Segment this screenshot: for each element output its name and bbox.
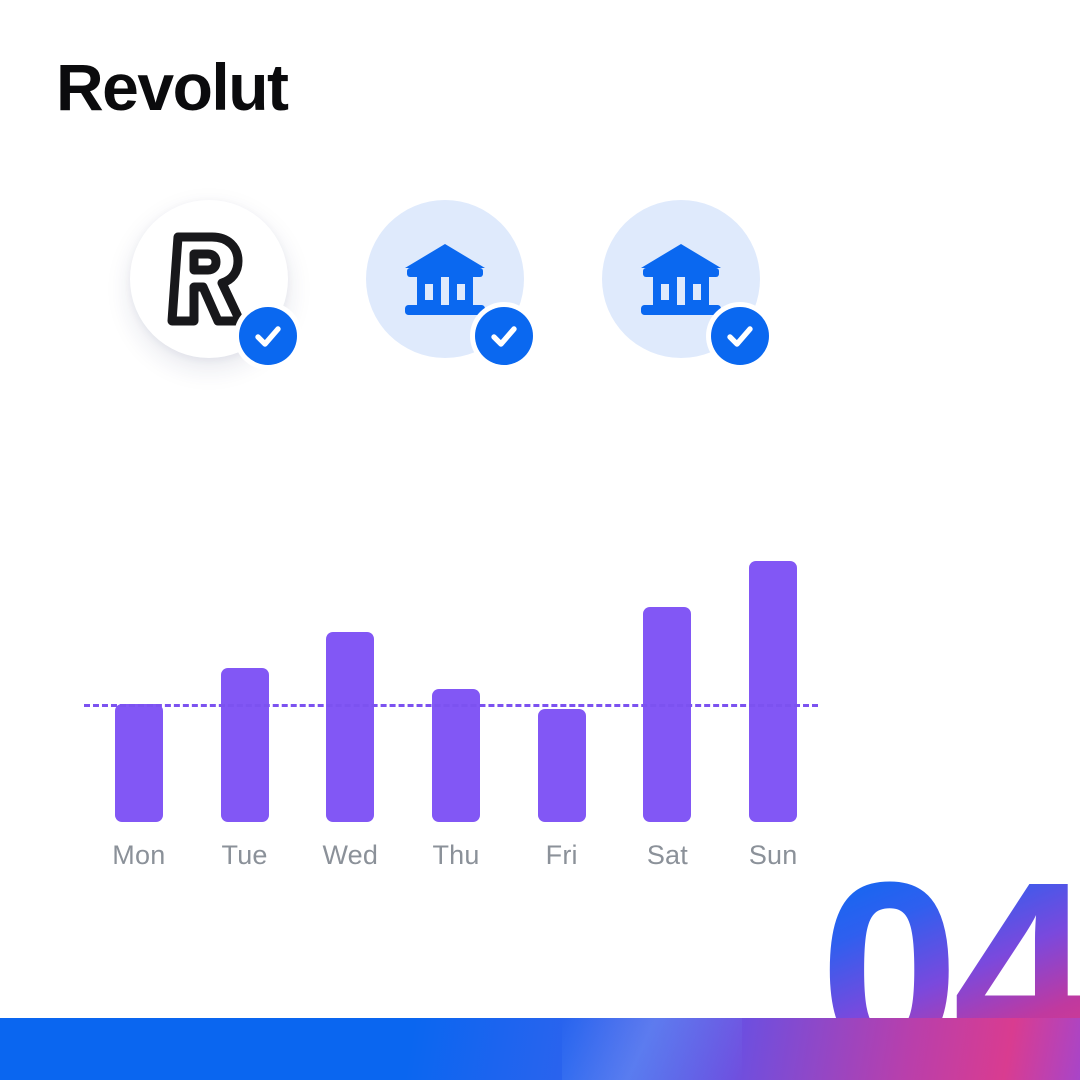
bank-icon [403, 242, 487, 316]
check-icon [723, 319, 757, 353]
chart-x-label: Sun [718, 840, 828, 871]
chart-x-label: Thu [401, 840, 511, 871]
chart-x-label: Mon [84, 840, 194, 871]
bottom-gradient-bar [0, 1018, 1080, 1080]
chart-bar [749, 561, 797, 822]
chart-bar [115, 704, 163, 822]
verified-account-badges [0, 196, 1080, 406]
average-dashed-line [84, 704, 818, 707]
chart-x-axis-labels: MonTueWedThuFriSatSun [86, 840, 826, 880]
gradient-sheen [562, 1018, 742, 1080]
chart-x-label: Tue [190, 840, 300, 871]
chart-x-label: Fri [507, 840, 617, 871]
slide-canvas: Revolut [0, 0, 1080, 1080]
bank-icon [639, 242, 723, 316]
revolut-wordmark: Revolut [56, 54, 288, 120]
chart-plot-area [86, 540, 826, 822]
badge-bank-account-1[interactable] [366, 200, 524, 358]
chart-x-label: Wed [295, 840, 405, 871]
verified-check-badge [470, 302, 538, 370]
chart-bar [326, 632, 374, 822]
chart-bar [643, 607, 691, 822]
revolut-r-icon [166, 231, 252, 327]
badge-revolut-account[interactable] [130, 200, 288, 358]
chart-bar [432, 689, 480, 822]
chart-bar [538, 709, 586, 822]
verified-check-badge [234, 302, 302, 370]
check-icon [251, 319, 285, 353]
chart-bar [221, 668, 269, 822]
check-icon [487, 319, 521, 353]
chart-x-label: Sat [612, 840, 722, 871]
verified-check-badge [706, 302, 774, 370]
badge-bank-account-2[interactable] [602, 200, 760, 358]
